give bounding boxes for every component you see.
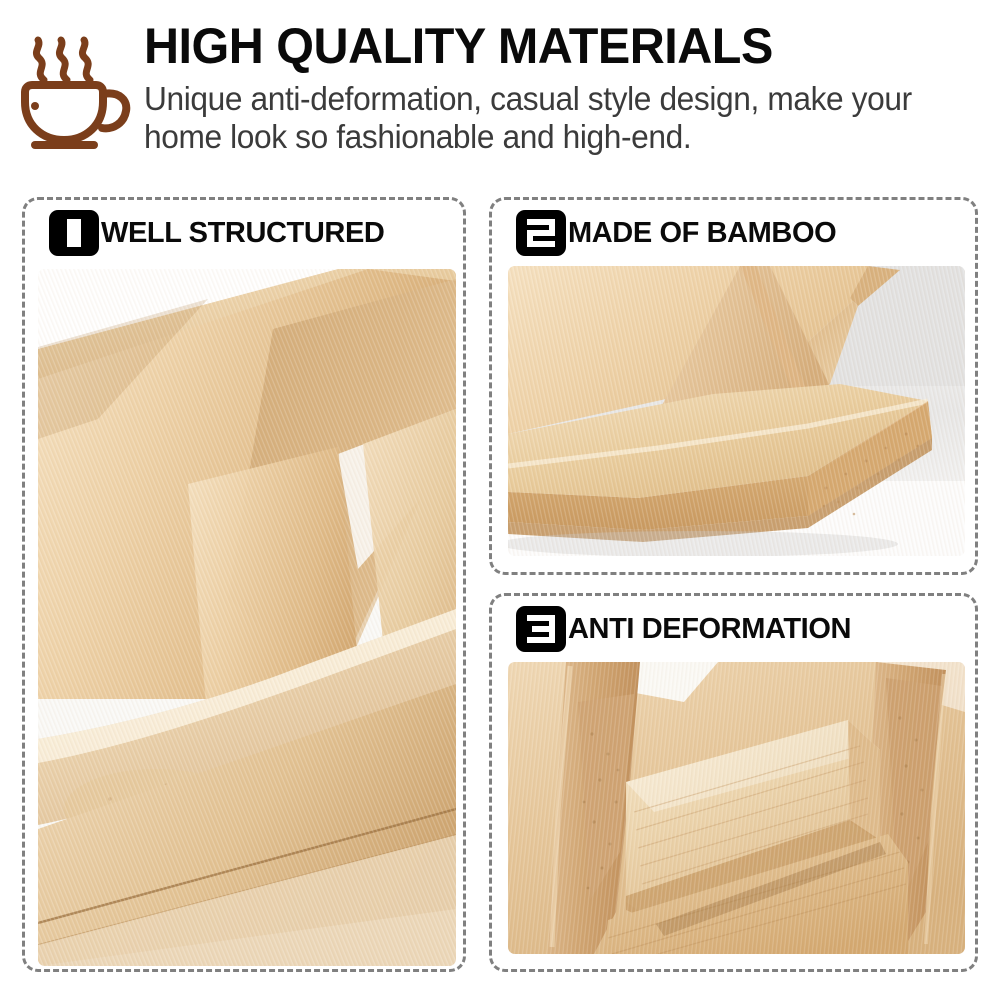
panel-1-photo [38,269,456,966]
panel-2-title: MADE OF BAMBOO [568,217,836,249]
panel-2-header: MADE OF BAMBOO [492,200,975,266]
panel-3-photo [508,662,965,954]
panel-1-title: WELL STRUCTURED [101,217,384,249]
header: HIGH QUALITY MATERIALS Unique anti-defor… [0,0,1000,178]
feature-panel-3: ANTI DEFORMATION [489,593,978,972]
feature-panel-2: MADE OF BAMBOO [489,197,978,575]
coffee-cup-icon [14,22,134,152]
feature-panel-1: WELL STRUCTURED [22,197,466,972]
number-badge-2 [516,210,566,256]
panel-2-photo [508,266,965,556]
page-title: HIGH QUALITY MATERIALS [144,18,965,74]
infographic-page: HIGH QUALITY MATERIALS Unique anti-defor… [0,0,1000,1000]
panel-3-title: ANTI DEFORMATION [568,613,851,645]
header-text-block: HIGH QUALITY MATERIALS Unique anti-defor… [144,18,990,156]
number-badge-1 [49,210,99,256]
page-subtitle: Unique anti-deformation, casual style de… [144,80,956,156]
number-badge-3 [516,606,566,652]
panel-3-header: ANTI DEFORMATION [492,596,975,662]
panel-1-header: WELL STRUCTURED [25,200,463,266]
